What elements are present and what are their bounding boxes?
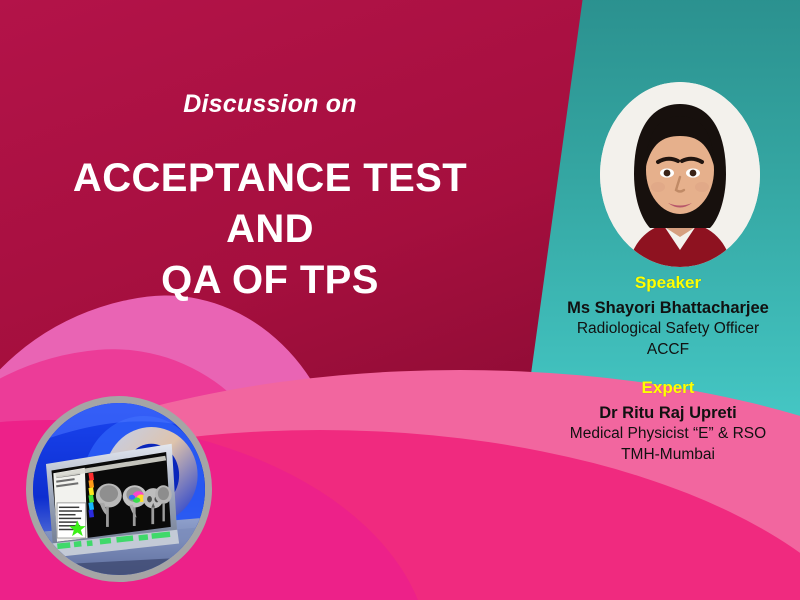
credit-group-expert: Expert Dr Ritu Raj Upreti Medical Physic…	[540, 377, 796, 466]
title-block: Discussion on ACCEPTANCE TEST AND QA OF …	[0, 92, 540, 307]
title-line-1: ACCEPTANCE TEST	[0, 153, 540, 204]
avatar	[600, 82, 760, 267]
credits-panel: Speaker Ms Shayori Bhattacharjee Radiolo…	[540, 272, 796, 466]
speaker-affiliation: ACCF	[540, 340, 796, 361]
portrait-illustration	[600, 82, 760, 267]
slide-kicker: Discussion on	[0, 92, 540, 117]
expert-affiliation: TMH-Mumbai	[540, 445, 796, 466]
title-line-3: QA OF TPS	[0, 255, 540, 306]
tps-workstation-illustration	[33, 403, 205, 575]
page-title: ACCEPTANCE TEST AND QA OF TPS	[0, 153, 540, 307]
role-label-speaker: Speaker	[540, 272, 796, 295]
credit-group-speaker: Speaker Ms Shayori Bhattacharjee Radiolo…	[540, 272, 796, 361]
expert-designation: Medical Physicist “E” & RSO	[540, 424, 796, 445]
speaker-designation: Radiological Safety Officer	[540, 319, 796, 340]
tps-workstation-image	[26, 396, 212, 582]
title-line-2: AND	[0, 204, 540, 255]
expert-name: Dr Ritu Raj Upreti	[540, 402, 796, 424]
role-label-expert: Expert	[540, 377, 796, 400]
speaker-name: Ms Shayori Bhattacharjee	[540, 297, 796, 319]
presentation-slide: Discussion on ACCEPTANCE TEST AND QA OF …	[0, 0, 800, 600]
